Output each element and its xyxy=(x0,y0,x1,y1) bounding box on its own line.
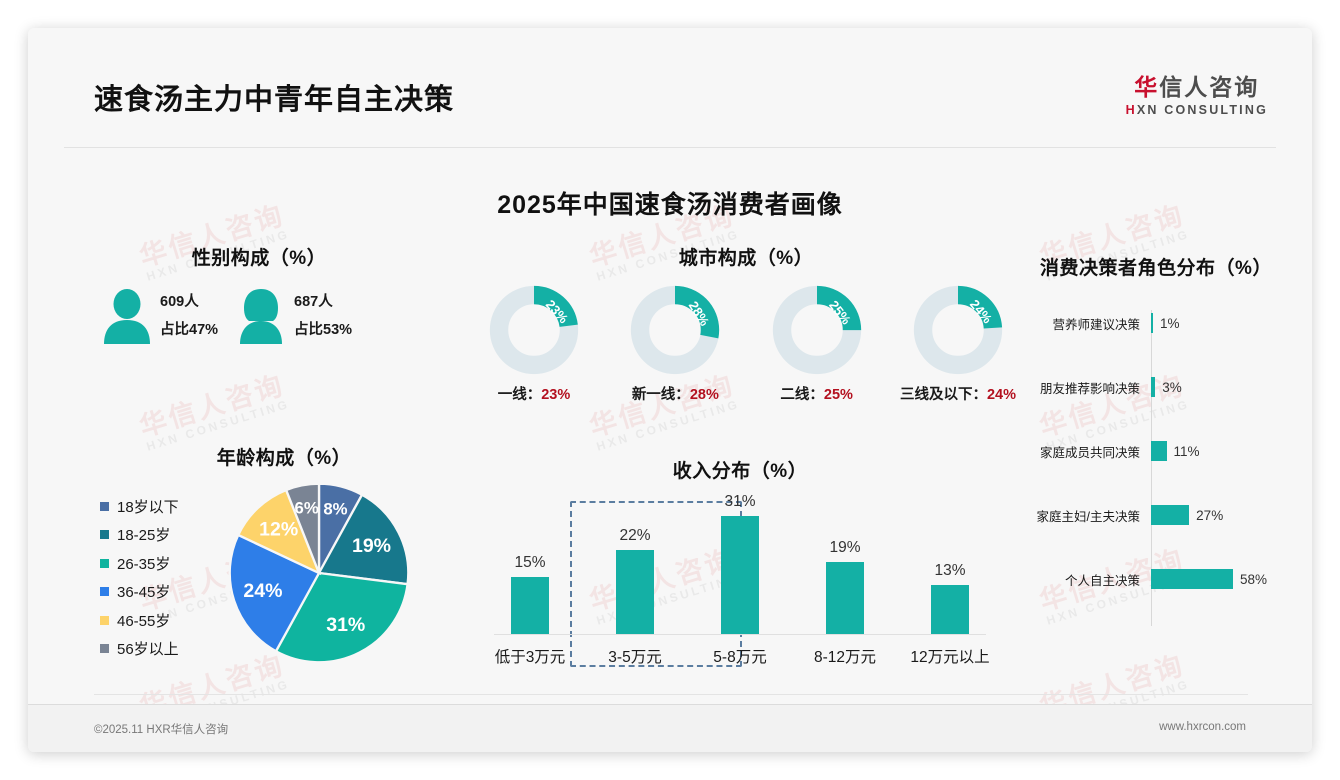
income-category-labels: 低于3万元3-5万元5-8万元8-12万元12万元以上 xyxy=(480,645,1000,667)
income-bar xyxy=(826,562,864,634)
city-value: 28% xyxy=(690,387,719,403)
legend-swatch-icon xyxy=(100,502,109,511)
donut-chart-tier3: 24% xyxy=(912,284,1004,376)
decision-bar xyxy=(1151,441,1167,461)
decision-bar-row: 个人自主决策58% xyxy=(1016,566,1296,592)
city-panel-title: 城市构成（%） xyxy=(466,243,1026,270)
age-panel: 年龄构成（%） 18岁以下18-25岁26-35岁36-45岁46-55岁56岁… xyxy=(94,443,474,666)
age-legend-label: 18-25岁 xyxy=(117,524,170,545)
male-person-icon xyxy=(102,288,152,344)
age-pie-slice-label: 12% xyxy=(259,519,298,541)
income-bar xyxy=(616,550,654,634)
age-legend-label: 46-55岁 xyxy=(117,610,170,631)
income-bar-value: 13% xyxy=(900,562,1000,580)
decision-bar xyxy=(1151,377,1155,397)
logo-english-text: HXN CONSULTING xyxy=(1126,103,1268,117)
city-panel: 城市构成（%） 23% 一线：23% 28% xyxy=(466,243,1026,404)
footer-copyright: ©2025.11 HXR华信人咨询 xyxy=(94,721,228,737)
age-legend-label: 26-35岁 xyxy=(117,553,170,574)
age-legend-label: 18岁以下 xyxy=(117,496,179,517)
decision-bar xyxy=(1151,569,1233,589)
donut-svg xyxy=(771,284,863,376)
age-pie-slice-label: 6% xyxy=(295,499,319,518)
age-panel-title: 年龄构成（%） xyxy=(94,443,474,470)
age-pie-svg: 8%19%31%24%12%6% xyxy=(226,480,412,666)
decision-bar-area: 11% xyxy=(1146,438,1296,464)
decision-category-label: 个人自主决策 xyxy=(1016,570,1146,589)
logo-cn-red-char: 华 xyxy=(1134,74,1159,100)
donut-svg xyxy=(488,284,580,376)
income-category-label: 8-12万元 xyxy=(795,645,895,667)
income-category-label: 低于3万元 xyxy=(480,645,580,667)
income-bar-column: 22% xyxy=(585,527,685,634)
decision-bar-value: 1% xyxy=(1160,316,1180,331)
city-donut-row: 23% 一线：23% 28% 新一线：28% xyxy=(466,284,1026,404)
city-donut-item: 23% 一线：23% xyxy=(470,284,598,404)
decision-category-label: 朋友推荐影响决策 xyxy=(1016,378,1146,397)
age-pie-chart: 8%19%31%24%12%6% xyxy=(226,480,412,666)
gender-items: 609人 占比47% 687人 占比53% xyxy=(94,288,424,345)
logo-cn-rest: 信人咨询 xyxy=(1159,74,1259,100)
decision-bar-row: 家庭成员共同决策11% xyxy=(1016,438,1296,464)
income-plot: 15%22%31%19%13% 低于3万元3-5万元5-8万元8-12万元12万… xyxy=(480,499,1000,667)
income-category-label: 5-8万元 xyxy=(690,645,790,667)
city-name: 三线及以下： xyxy=(900,387,987,403)
decision-bar-row: 朋友推荐影响决策3% xyxy=(1016,374,1296,400)
income-category-label: 3-5万元 xyxy=(585,645,685,667)
decision-category-label: 家庭主妇/主夫决策 xyxy=(1016,506,1146,525)
page-title: 速食汤主力中青年自主决策 xyxy=(94,76,454,118)
gender-panel-title: 性别构成（%） xyxy=(94,243,424,270)
gender-female-stats: 687人 占比53% xyxy=(294,288,352,345)
logo-en-rest: XN CONSULTING xyxy=(1137,103,1268,117)
watermark-en: HXN CONSULTING xyxy=(594,397,742,454)
decision-panel: 消费决策者角色分布（%） 营养师建议决策1%朋友推荐影响决策3%家庭成员共同决策… xyxy=(1016,253,1296,626)
age-legend-item: 18岁以下 xyxy=(100,492,222,521)
decision-bar xyxy=(1151,313,1153,333)
decision-bar-area: 27% xyxy=(1146,502,1296,528)
slide-header: 速食汤主力中青年自主决策 华信人咨询 HXN CONSULTING xyxy=(28,28,1312,120)
decision-bar-value: 3% xyxy=(1162,380,1182,395)
legend-swatch-icon xyxy=(100,587,109,596)
income-bar-value: 15% xyxy=(480,554,580,572)
city-name: 新一线： xyxy=(632,387,690,403)
age-legend-item: 26-35岁 xyxy=(100,549,222,578)
age-pie-slice-label: 19% xyxy=(352,535,391,557)
city-donut-label: 二线：25% xyxy=(753,383,881,404)
donut-chart-tier2: 25% xyxy=(771,284,863,376)
gender-female-share: 占比53% xyxy=(294,316,352,344)
age-pie-slice-label: 31% xyxy=(326,614,365,636)
legend-swatch-icon xyxy=(100,616,109,625)
logo-chinese-text: 华信人咨询 xyxy=(1126,75,1268,100)
company-logo: 华信人咨询 HXN CONSULTING xyxy=(1126,75,1268,117)
city-donut-item: 24% 三线及以下：24% xyxy=(894,284,1022,404)
city-donut-label: 三线及以下：24% xyxy=(894,383,1022,404)
income-bar-column: 13% xyxy=(900,562,1000,634)
gender-item-female: 687人 占比53% xyxy=(236,288,352,345)
city-donut-label: 新一线：28% xyxy=(611,383,739,404)
decision-bar-area: 3% xyxy=(1146,374,1296,400)
footer-bar: ©2025.11 HXR华信人咨询 www.hxrcon.com xyxy=(28,704,1312,752)
city-value: 24% xyxy=(987,387,1016,403)
income-bar-value: 31% xyxy=(690,493,790,511)
income-bar xyxy=(511,577,549,634)
decision-plot: 营养师建议决策1%朋友推荐影响决策3%家庭成员共同决策11%家庭主妇/主夫决策2… xyxy=(1016,306,1296,626)
income-bars: 15%22%31%19%13% xyxy=(480,502,1000,634)
chart-main-title: 2025年中国速食汤消费者画像 xyxy=(28,185,1312,221)
income-bar-value: 22% xyxy=(585,527,685,545)
watermark-cn: 华信人咨询 xyxy=(134,363,289,444)
header-divider xyxy=(64,147,1276,148)
decision-bar xyxy=(1151,505,1189,525)
decision-bar-area: 58% xyxy=(1146,566,1296,592)
income-panel-title: 收入分布（%） xyxy=(480,456,1000,483)
footer-website[interactable]: www.hxrcon.com xyxy=(1159,721,1246,733)
age-legend-item: 36-45岁 xyxy=(100,578,222,607)
logo-en-red-char: H xyxy=(1126,103,1137,117)
city-value: 23% xyxy=(541,387,570,403)
footnote-divider xyxy=(94,694,1248,695)
gender-male-share: 占比47% xyxy=(160,316,218,344)
income-category-label: 12万元以上 xyxy=(900,645,1000,667)
income-panel: 收入分布（%） 15%22%31%19%13% 低于3万元3-5万元5-8万元8… xyxy=(480,456,1000,667)
age-pie-slice-label: 24% xyxy=(243,580,282,602)
slide-canvas: 华信人咨询 HXN CONSULTING 华信人咨询 HXN CONSULTIN… xyxy=(28,28,1312,752)
donut-svg xyxy=(912,284,1004,376)
legend-swatch-icon xyxy=(100,644,109,653)
city-name: 一线： xyxy=(498,387,542,403)
city-donut-label: 一线：23% xyxy=(470,383,598,404)
decision-panel-title: 消费决策者角色分布（%） xyxy=(1016,253,1296,280)
city-donut-item: 25% 二线：25% xyxy=(753,284,881,404)
income-bar-column: 15% xyxy=(480,554,580,634)
female-person-icon xyxy=(236,288,286,344)
donut-chart-newtier1: 28% xyxy=(629,284,721,376)
age-legend-item: 18-25岁 xyxy=(100,521,222,550)
age-legend: 18岁以下18-25岁26-35岁36-45岁46-55岁56岁以上 xyxy=(94,480,222,663)
decision-category-label: 营养师建议决策 xyxy=(1016,314,1146,333)
donut-chart-tier1: 23% xyxy=(488,284,580,376)
decision-bar-area: 1% xyxy=(1146,310,1296,336)
age-body: 18岁以下18-25岁26-35岁36-45岁46-55岁56岁以上 8%19%… xyxy=(94,480,474,666)
decision-category-label: 家庭成员共同决策 xyxy=(1016,442,1146,461)
donut-svg xyxy=(629,284,721,376)
decision-bar-row: 家庭主妇/主夫决策27% xyxy=(1016,502,1296,528)
gender-panel: 性别构成（%） 609人 占比47% 687人 占比5 xyxy=(94,243,424,345)
age-legend-label: 56岁以上 xyxy=(117,638,179,659)
legend-swatch-icon xyxy=(100,530,109,539)
city-name: 二线： xyxy=(780,387,824,403)
income-bar-column: 19% xyxy=(795,539,895,634)
gender-male-count: 609人 xyxy=(160,288,218,316)
decision-bar-value: 27% xyxy=(1196,508,1223,523)
watermark: 华信人咨询 HXN CONSULTING xyxy=(134,363,292,454)
decision-bar-value: 58% xyxy=(1240,572,1267,587)
city-donut-item: 28% 新一线：28% xyxy=(611,284,739,404)
age-legend-label: 36-45岁 xyxy=(117,581,170,602)
income-bar-column: 31% xyxy=(690,493,790,634)
gender-female-count: 687人 xyxy=(294,288,352,316)
legend-swatch-icon xyxy=(100,559,109,568)
city-value: 25% xyxy=(824,387,853,403)
income-bar xyxy=(721,516,759,634)
gender-male-stats: 609人 占比47% xyxy=(160,288,218,345)
age-legend-item: 56岁以上 xyxy=(100,635,222,664)
income-baseline xyxy=(494,634,986,635)
income-bar-value: 19% xyxy=(795,539,895,557)
age-pie-slice-label: 8% xyxy=(323,500,347,519)
gender-item-male: 609人 占比47% xyxy=(102,288,218,345)
income-bar xyxy=(931,585,969,634)
decision-bar-value: 11% xyxy=(1174,444,1200,459)
decision-bar-row: 营养师建议决策1% xyxy=(1016,310,1296,336)
age-legend-item: 46-55岁 xyxy=(100,606,222,635)
